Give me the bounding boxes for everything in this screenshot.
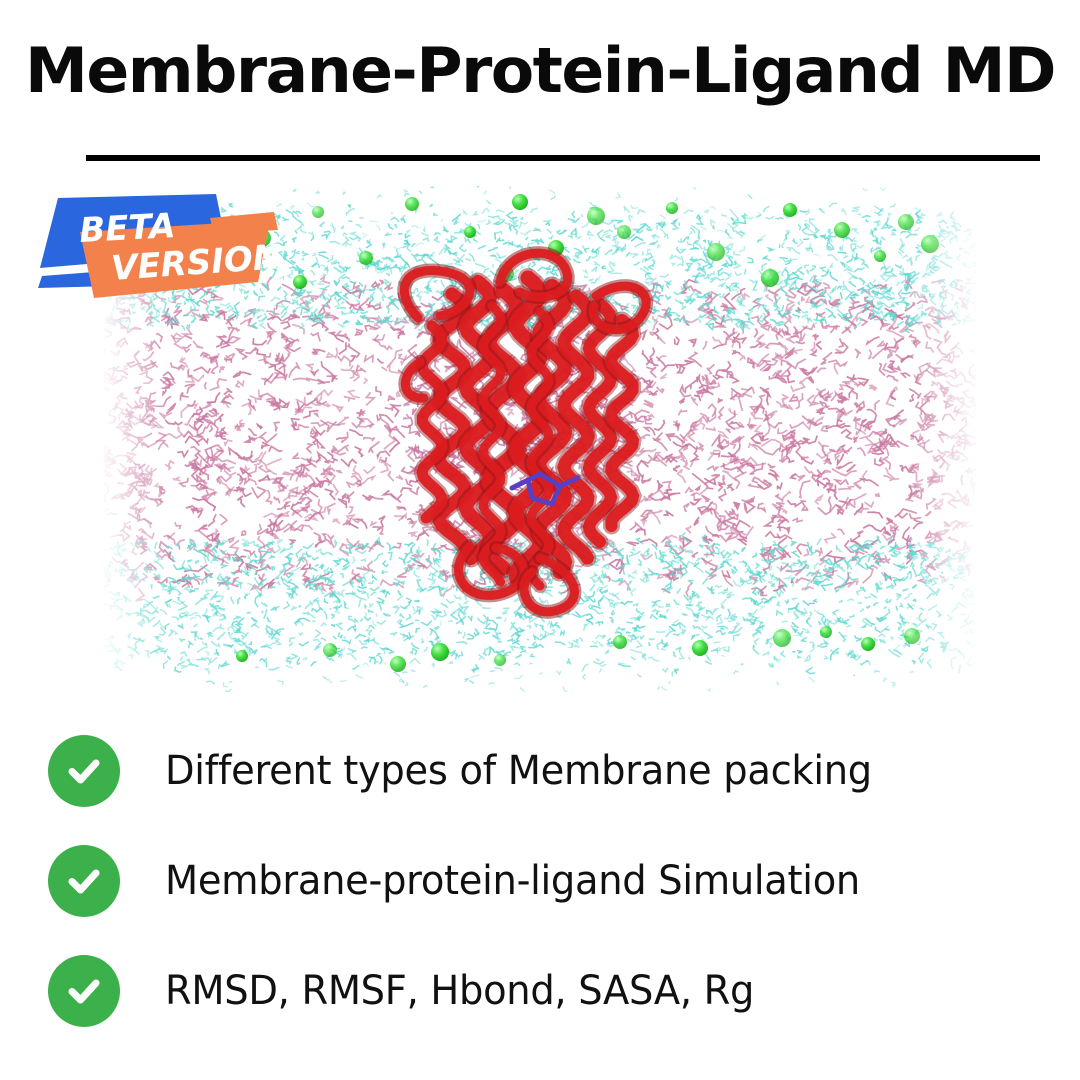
title-divider [86,155,1040,161]
feature-label: RMSD, RMSF, Hbond, SASA, Rg [165,968,754,1014]
feature-label: Membrane-protein-ligand Simulation [165,858,860,904]
check-circle-icon [48,845,120,917]
check-circle-icon [48,955,120,1027]
badge-primary-label: BETA [78,206,176,251]
feature-label: Different types of Membrane packing [165,748,872,794]
feature-item-1: Different types of Membrane packing [0,716,1080,826]
beta-version-badge: BETA VERSION [34,190,286,306]
page-title: Membrane-Protein-Ligand MD [0,34,1080,107]
check-circle-icon [48,735,120,807]
feature-item-3: RMSD, RMSF, Hbond, SASA, Rg [0,936,1080,1046]
feature-list: Different types of Membrane packing Memb… [0,716,1080,1046]
feature-item-2: Membrane-protein-ligand Simulation [0,826,1080,936]
